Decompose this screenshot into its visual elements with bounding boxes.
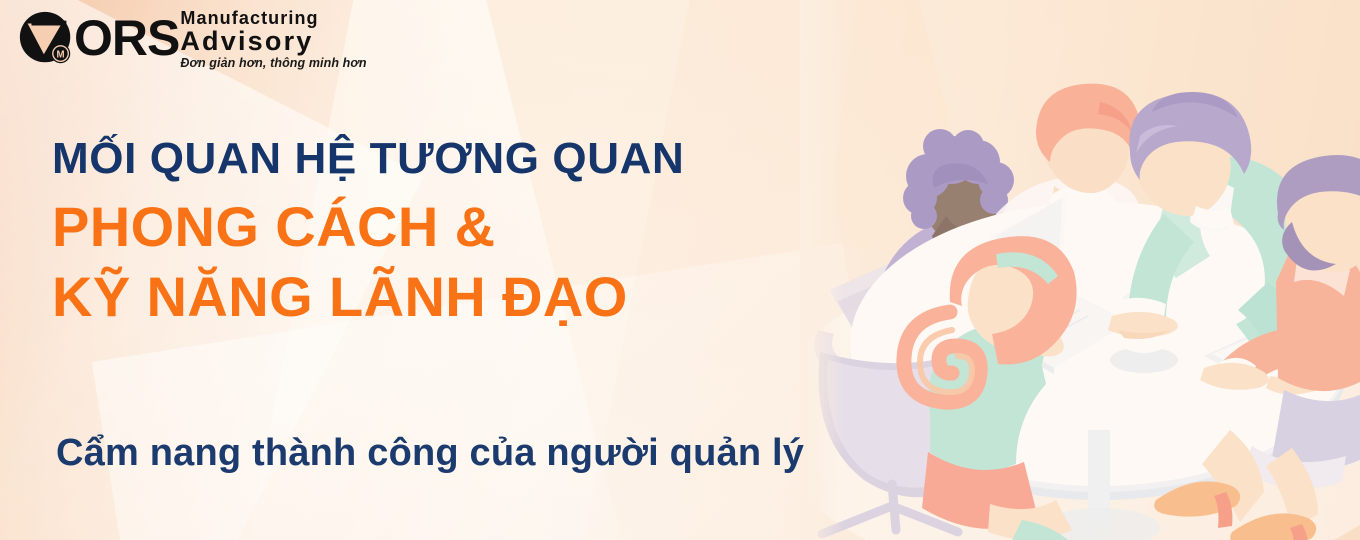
- brand-logo[interactable]: M ORS Manufacturing Advisory Đơn giản hơ…: [16, 6, 367, 70]
- isometric-meeting-illustration: [800, 0, 1360, 540]
- svg-text:M: M: [57, 49, 65, 60]
- brand-name: ORS: [74, 12, 179, 64]
- headline-kicker: MỐI QUAN HỆ TƯƠNG QUAN: [52, 132, 684, 186]
- brand-tagline: Đơn giản hơn, thông minh hơn: [180, 56, 366, 70]
- marketing-banner: M ORS Manufacturing Advisory Đơn giản hơ…: [0, 0, 1360, 540]
- ors-circle-v-mark-icon: M: [16, 8, 78, 70]
- headline-line-1: PHONG CÁCH &: [52, 192, 684, 262]
- headline-block: MỐI QUAN HỆ TƯƠNG QUAN PHONG CÁCH & KỸ N…: [52, 132, 684, 332]
- headline-line-2: KỸ NĂNG LÃNH ĐẠO: [52, 262, 684, 332]
- headline-subtitle: Cẩm nang thành công của người quản lý: [56, 432, 804, 475]
- brand-line-advisory: Advisory: [180, 27, 366, 55]
